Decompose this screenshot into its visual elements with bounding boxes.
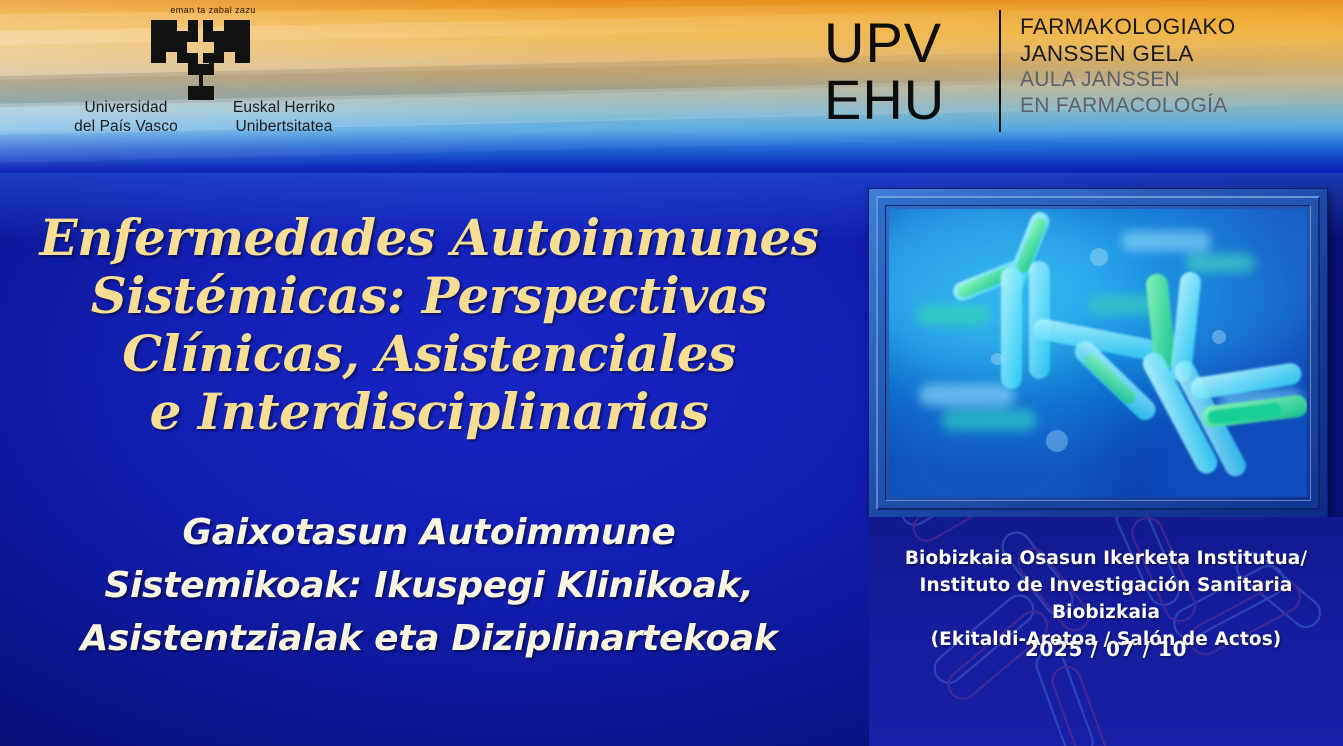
title-es-line3: Clínicas, Asistenciales bbox=[10, 325, 848, 383]
unit-es-line2: EN FARMACOLOGÍA bbox=[1020, 93, 1340, 119]
university-name-eu-line2: Unibertsitatea bbox=[235, 118, 332, 135]
unit-eu-line2: JANSSEN GELA bbox=[1020, 41, 1340, 68]
title-eu-line2: Sistemikoak: Ikuspegi Klinikoak, bbox=[10, 559, 848, 612]
header-divider bbox=[999, 10, 1001, 132]
unit-es-line1: AULA JANSSEN bbox=[1020, 67, 1340, 93]
poster-header: eman ta zabal zazu Universidad del País … bbox=[0, 0, 1343, 173]
title-eu-line3: Asistentzialak eta Diziplinartekoak bbox=[10, 612, 848, 665]
venue-info-panel: Biobizkaia Osasun Ikerketa Institutua/ I… bbox=[869, 517, 1343, 746]
title-es-line4: e Interdisciplinarias bbox=[10, 383, 848, 441]
title-es-line2: Sistémicas: Perspectivas bbox=[10, 267, 848, 325]
conference-poster: eman ta zabal zazu Universidad del País … bbox=[0, 0, 1343, 746]
university-name-eu-line1: Euskal Herriko bbox=[233, 99, 335, 116]
unit-eu-line1: FARMAKOLOGIAKO bbox=[1020, 14, 1340, 41]
acronym-line-upv: UPV bbox=[824, 14, 945, 71]
upv-ehu-acronym: UPV EHU bbox=[824, 14, 945, 128]
acronym-line-ehu: EHU bbox=[824, 71, 945, 128]
venue-line1: Biobizkaia Osasun Ikerketa Institutua/ bbox=[869, 545, 1343, 572]
title-spanish: Enfermedades Autoinmunes Sistémicas: Per… bbox=[10, 209, 848, 441]
title-basque: Gaixotasun Autoimmune Sistemikoak: Ikusp… bbox=[10, 506, 848, 665]
event-date: 2025 / 07 / 10 bbox=[869, 637, 1343, 661]
upv-ehu-tree-logo-icon bbox=[148, 16, 252, 100]
title-es-line1: Enfermedades Autoinmunes bbox=[10, 209, 848, 267]
poster-body: Enfermedades Autoinmunes Sistémicas: Per… bbox=[0, 173, 1343, 746]
antibody-image-frame bbox=[869, 189, 1327, 517]
university-name-es-line2: del País Vasco bbox=[74, 118, 178, 135]
university-name-es-line1: Universidad bbox=[85, 99, 168, 116]
janssen-unit-name: FARMAKOLOGIAKO JANSSEN GELA AULA JANSSEN… bbox=[1020, 14, 1340, 118]
university-name: Universidad del País Vasco Euskal Herrik… bbox=[60, 98, 390, 136]
header-bottom-fade bbox=[0, 130, 1343, 173]
title-eu-line1: Gaixotasun Autoimmune bbox=[10, 506, 848, 559]
venue-line2: Instituto de Investigación Sanitaria Bio… bbox=[869, 572, 1343, 626]
antibody-illustration-icon bbox=[889, 209, 1307, 497]
